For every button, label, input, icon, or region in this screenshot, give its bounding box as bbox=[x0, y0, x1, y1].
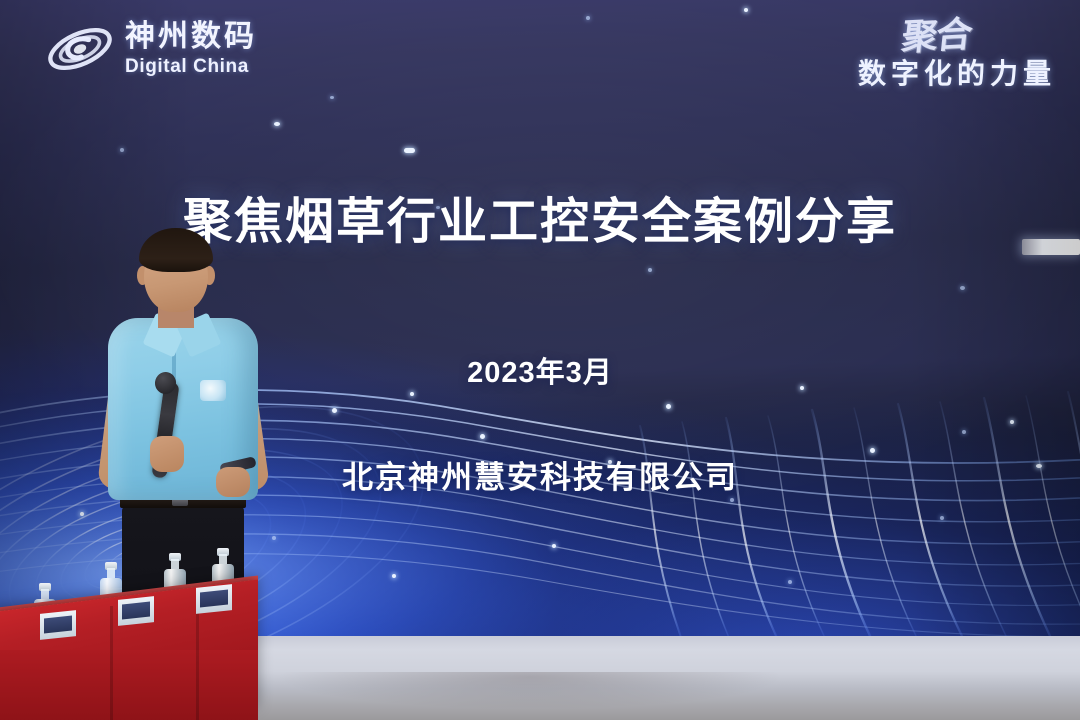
slogan-brush-text: 聚合 bbox=[900, 16, 972, 56]
name-card-text bbox=[200, 590, 228, 608]
speaker-hand-holding-clicker bbox=[216, 467, 250, 497]
speaker-hair bbox=[139, 228, 213, 272]
brand-logo: 神州数码 Digital China bbox=[44, 18, 257, 80]
event-slogan: 聚合 数字化的力量 bbox=[858, 18, 1056, 88]
bottle-neck bbox=[171, 559, 179, 569]
name-card bbox=[196, 584, 232, 614]
brand-name-cn: 神州数码 bbox=[125, 22, 257, 52]
speaker-chest-logo-badge bbox=[200, 380, 226, 401]
slogan-sub-text: 数字化的力量 bbox=[858, 60, 1056, 88]
speaker-hand-holding-microphone bbox=[150, 436, 184, 472]
name-card bbox=[40, 610, 76, 640]
bottle-neck bbox=[41, 589, 49, 599]
red-table-skirt-lower bbox=[0, 650, 258, 720]
name-card-text bbox=[122, 602, 150, 620]
bottle-neck bbox=[107, 568, 115, 578]
brand-name-en: Digital China bbox=[125, 57, 257, 76]
bottle-neck bbox=[219, 554, 227, 564]
spiral-galaxy-logo-icon bbox=[44, 18, 116, 80]
name-card-text bbox=[44, 616, 72, 634]
tablecloth-fold bbox=[196, 600, 199, 720]
brand-text: 神州数码 Digital China bbox=[125, 22, 257, 76]
stage-floor-shadow bbox=[250, 672, 810, 720]
name-card bbox=[118, 596, 154, 626]
tablecloth-fold bbox=[110, 606, 113, 720]
conference-stage-photo: 神州数码 Digital China 聚合 数字化的力量 聚焦烟草行业工控安全案… bbox=[0, 0, 1080, 720]
